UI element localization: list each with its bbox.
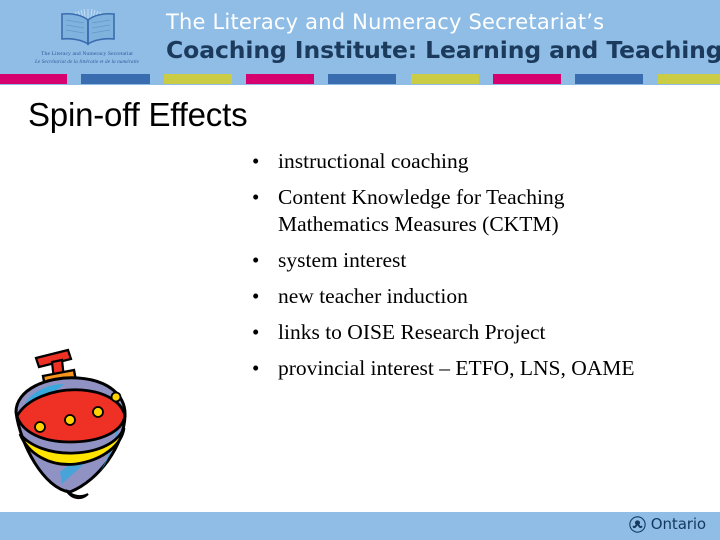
list-item: •new teacher induction — [248, 283, 678, 310]
list-item-text: instructional coaching — [278, 148, 678, 175]
list-item: •links to OISE Research Project — [248, 319, 678, 346]
color-bar-segment-1 — [81, 74, 150, 84]
color-bar-segment-4 — [328, 74, 396, 84]
lns-logo-caption: The Literacy and Numeracy Secretariat Le… — [22, 50, 152, 66]
slide-footer-band: Ontario — [0, 512, 720, 540]
list-item-text: provincial interest – ETFO, LNS, OAME — [278, 355, 678, 382]
open-book-icon — [56, 6, 120, 48]
lns-logo: The Literacy and Numeracy Secretariat Le… — [22, 6, 152, 68]
list-item: •system interest — [248, 247, 678, 274]
color-bar-segment-2 — [164, 74, 232, 84]
bullet-marker-icon: • — [248, 148, 278, 175]
color-bar-segment-3 — [246, 74, 314, 84]
spinning-top-icon — [8, 340, 133, 505]
header-title-line1: The Literacy and Numeracy Secretariat’s — [166, 10, 604, 34]
list-item-text: links to OISE Research Project — [278, 319, 678, 346]
bullet-marker-icon: • — [248, 283, 278, 310]
bullet-marker-icon: • — [248, 247, 278, 274]
color-bar-segment-8 — [658, 74, 720, 84]
color-bar-segment-0 — [0, 74, 67, 84]
slide-header-band: The Literacy and Numeracy Secretariat Le… — [0, 0, 720, 85]
color-bar-segment-7 — [575, 74, 643, 84]
list-item-text: new teacher induction — [278, 283, 678, 310]
header-color-bar — [0, 74, 720, 84]
header-title-line2: Coaching Institute: Learning and Teachin… — [166, 36, 720, 64]
bullet-marker-icon: • — [248, 319, 278, 346]
color-bar-segment-6 — [493, 74, 561, 84]
ontario-logo: Ontario — [629, 516, 706, 533]
lns-logo-caption-fr: Le Secrétariat de la littératie et de la… — [22, 58, 152, 66]
bullet-list: •instructional coaching•Content Knowledg… — [248, 148, 678, 391]
list-item: •provincial interest – ETFO, LNS, OAME — [248, 355, 678, 382]
list-item: •Content Knowledge for Teaching Mathemat… — [248, 184, 678, 238]
presentation-slide: The Literacy and Numeracy Secretariat Le… — [0, 0, 720, 540]
list-item: •instructional coaching — [248, 148, 678, 175]
ontario-wordmark: Ontario — [651, 516, 706, 533]
bullet-marker-icon: • — [248, 355, 278, 382]
list-item-text: Content Knowledge for Teaching Mathemati… — [278, 184, 678, 238]
bullet-marker-icon: • — [248, 184, 278, 211]
color-bar-segment-5 — [411, 74, 479, 84]
list-item-text: system interest — [278, 247, 678, 274]
trillium-icon — [629, 516, 646, 533]
page-title: Spin-off Effects — [28, 96, 247, 134]
lns-logo-caption-en: The Literacy and Numeracy Secretariat — [22, 50, 152, 58]
